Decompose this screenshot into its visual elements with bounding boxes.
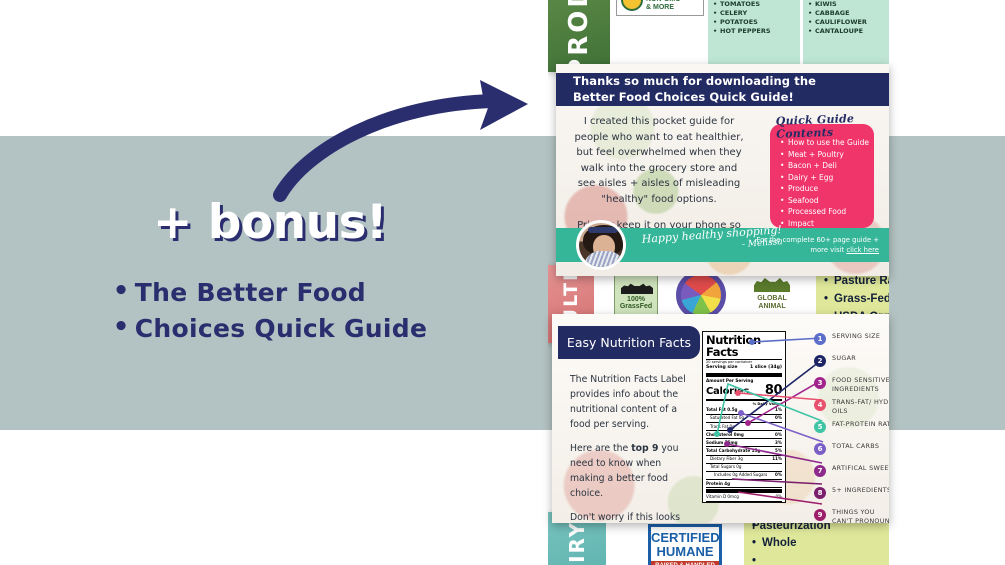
ccof-icon	[621, 0, 643, 11]
nf-nutrient-row: Total Fat 0.5g1%	[706, 407, 782, 413]
nf-callout: 9THINGS YOUCAN'T PRONOUNCE	[814, 508, 889, 523]
nf-callout-number: 7	[814, 465, 826, 477]
nf-row-name: Total Fat 0.5g	[706, 407, 738, 413]
nf-callout-number: 6	[814, 443, 826, 455]
bonus-section: + bonus! The Better FoodChoices Quick Gu…	[0, 195, 540, 348]
quick-guide-cta: For the complete 60+ page guide + more v…	[744, 235, 879, 256]
nf-row-name: Sodium 75mg	[706, 440, 738, 446]
nf-callout-label: FOOD SENSITIVEINGREDIENTS	[832, 376, 889, 394]
nf-nutrient-row: Protein 4g	[706, 481, 782, 487]
curved-arrow-right-icon	[266, 78, 566, 208]
quick-guide-header-line1: Thanks so much for downloading the	[573, 74, 816, 90]
nf-callout: 5FAT-PROTEIN RATIO	[814, 420, 889, 439]
nf-callout-number: 8	[814, 487, 826, 499]
nf-row-dv: 0%	[775, 432, 782, 438]
produce-clean-list: SWEET CORNPINEAPPLESSWEET PEAS(FROZEN)ON…	[803, 0, 895, 72]
dairy-spacer	[752, 553, 896, 565]
nf-callout-label: SUGAR	[832, 354, 856, 363]
nf-row-name: Includes 0g Added Sugars	[714, 472, 767, 478]
bonus-bullet: The Better Food	[113, 275, 427, 311]
quick-guide-card[interactable]: Thanks so much for downloading the Bette…	[556, 64, 889, 276]
nf-row-name: Total Sugars 0g	[710, 464, 741, 470]
nf-row-dv: 11%	[772, 456, 782, 462]
nf-title: Easy Nutrition Facts	[558, 326, 700, 359]
nf-callout-label: 5+ INGREDIENTS	[832, 486, 889, 495]
collage-right-gray	[889, 136, 1005, 430]
nf-nutrient-row: Includes 0g Added Sugars0%	[706, 472, 782, 478]
nf-nutrient-rows: Total Fat 0.5g1%Saturated Fat 0g0%Trans …	[706, 407, 782, 488]
bonus-bullet-list: The Better FoodChoices Quick Guide	[113, 275, 427, 348]
produce-dirty-list: SPINACHKALENECTARINESAPPLESGRAPESPEACHES…	[708, 0, 800, 72]
nf-calories-value: 80	[765, 383, 782, 398]
nf-micro-row: Calcium 0mg0%	[706, 502, 782, 503]
nf-row-dv: 5%	[775, 448, 782, 454]
nf-micro-name: Calcium 0mg	[706, 502, 733, 503]
nf-nutrient-row: Total Carbohydrate 15g5%	[706, 448, 782, 454]
nf-row-dv: 0%	[775, 415, 782, 421]
nf-callout-label: SERVING SIZE	[832, 332, 880, 341]
nf-callout-number: 5	[814, 421, 826, 433]
nf-nutrient-row: Saturated Fat 0g0%	[706, 415, 782, 421]
nf-callout-label: TRANS-FAT/ HYDROGENATEDOILS	[832, 398, 889, 416]
contents-item: Processed Food	[780, 206, 866, 218]
contents-item: Meat + Poultry	[780, 149, 866, 161]
nf-paragraph-2: Here are the top 9 you need to know when…	[570, 441, 698, 501]
grassfed-badge-icon: 100% GrassFed	[614, 275, 658, 315]
nf-micro-dv: 0%	[776, 494, 783, 500]
produce-side-tab: PRODUCE	[548, 0, 610, 72]
nf-callout-number: 1	[814, 333, 826, 345]
produce-list-item: CANTALOUPE	[808, 27, 890, 36]
contents-item: Bacon + Deli	[780, 160, 866, 172]
quick-guide-contents-list: How to use the GuideMeat + PoultryBacon …	[780, 137, 866, 241]
nf-callout: 4TRANS-FAT/ HYDROGENATEDOILS	[814, 398, 889, 417]
cta-link[interactable]: click here	[846, 246, 879, 254]
contents-item: Seafood	[780, 195, 866, 207]
global-animal-partnership-badge-icon: GLOBAL ANIMAL	[744, 273, 800, 317]
produce-list-item: CAULIFLOWER	[808, 18, 890, 27]
avatar	[576, 220, 626, 270]
nf-micronutrient-rows: Vitamin D 0mcg0%Calcium 0mg0%Iron 0mg0%P…	[706, 494, 782, 503]
quick-guide-paragraph-1: I created this pocket guide for people w…	[574, 114, 744, 207]
cta-line-1: For the complete 60+ page guide +	[744, 235, 879, 246]
quick-guide-contents-box: Quick Guide Contents How to use the Guid…	[770, 124, 874, 228]
nf-row-name: Dietary Fiber 3g	[710, 456, 743, 462]
nf-nutrient-row: Sodium 75mg3%	[706, 440, 782, 446]
quick-guide-header: Thanks so much for downloading the Bette…	[556, 73, 889, 106]
contents-item: Dairy + Egg	[780, 172, 866, 184]
nf-nutrient-row: Dietary Fiber 3g11%	[706, 456, 782, 462]
non-gmo-seal-text: ORGANIC IS NON-GMO & MORE	[646, 0, 688, 12]
cta-line-2-prefix: more visit	[810, 246, 846, 254]
collage-right-white-bottom	[889, 430, 1005, 565]
nf-callout-number: 9	[814, 509, 826, 521]
nf-callout: 6TOTAL CARBS	[814, 442, 889, 461]
nf-row-name: Total Carbohydrate 15g	[706, 448, 760, 454]
produce-list-item: CELERY	[713, 9, 795, 18]
nf-nutrient-row: Trans Fat 0g	[706, 424, 782, 430]
dairy-list-item: Whole	[752, 535, 896, 552]
nf-callout: 1SERVING SIZE	[814, 332, 889, 351]
easy-nutrition-facts-card[interactable]: Easy Nutrition Facts The Nutrition Facts…	[552, 314, 889, 523]
nf-row-name: Cholesterol 0mg	[706, 432, 744, 438]
nf-paragraph-1: The Nutrition Facts Label provides info …	[570, 372, 698, 432]
avatar-body	[584, 251, 624, 267]
nf-serving-size-label: Serving size	[706, 365, 738, 372]
certified-naturally-grown-badge-icon	[676, 270, 726, 320]
nf-row-name: Protein 4g	[706, 481, 730, 487]
contents-item: Produce	[780, 183, 866, 195]
nf-callout-label: FAT-PROTEIN RATIO	[832, 420, 889, 429]
produce-side-tab-label: PRODUCE	[564, 0, 594, 72]
nf-calories-label: Calories	[706, 386, 749, 397]
contents-item: How to use the Guide	[780, 137, 866, 149]
nf-body: The Nutrition Facts Label provides info …	[570, 372, 698, 523]
nf-row-name: Trans Fat 0g	[710, 424, 735, 430]
nf-callout-label: TOTAL CARBS	[832, 442, 879, 451]
nf-paragraph-3: Don't worry if this looks overwhelming. …	[570, 510, 698, 523]
nf-callout-number: 4	[814, 399, 826, 411]
nf-callout: 2SUGAR	[814, 354, 889, 373]
nf-callout: 3FOOD SENSITIVEINGREDIENTS	[814, 376, 889, 395]
nf-nutrient-row: Cholesterol 0mg0%	[706, 432, 782, 438]
avatar-headband	[588, 227, 618, 233]
nf-row-dv: 0%	[775, 472, 782, 478]
nutrition-facts-label: Nutrition Facts 20 servings per containe…	[702, 331, 786, 503]
nf-micro-row: Vitamin D 0mcg0%	[706, 494, 782, 500]
nf-callout-label: ARTIFICAL SWEETENERS	[832, 464, 889, 473]
produce-list-item: HOT PEPPERS	[713, 27, 795, 36]
produce-list-item: TOMATOES	[713, 0, 795, 9]
screenshot-root: PRODUCE USDA ORGANIC ORGANIC IS NON-GMO …	[0, 0, 1005, 565]
nf-callout: 7ARTIFICAL SWEETENERS	[814, 464, 889, 483]
nf-row-dv: 3%	[775, 440, 782, 446]
nf-micro-name: Vitamin D 0mcg	[706, 494, 739, 500]
nf-micro-dv: 0%	[776, 502, 783, 503]
nf-row-dv: 1%	[775, 407, 782, 413]
page-title: + bonus!	[0, 195, 540, 250]
non-gmo-seal-icon: ORGANIC IS NON-GMO & MORE	[616, 0, 704, 16]
produce-seals: USDA ORGANIC ORGANIC IS NON-GMO & MORE	[616, 0, 704, 16]
nf-callout-number: 2	[814, 355, 826, 367]
nf-row-name: Saturated Fat 0g	[710, 415, 744, 421]
nf-label-title: Nutrition Facts	[706, 334, 782, 358]
certified-humane-badge-icon: CERTIFIED HUMANE RAISED & HANDLED	[648, 524, 722, 565]
collage-right-white-top	[889, 0, 1005, 136]
nf-callout: 85+ INGREDIENTS	[814, 486, 889, 505]
produce-list-item: KIWIS	[808, 0, 890, 9]
nf-callout-list: 1SERVING SIZE2SUGAR3FOOD SENSITIVEINGRED…	[814, 332, 889, 523]
nf-nutrient-row: Total Sugars 0g	[706, 464, 782, 470]
produce-list-item: CABBAGE	[808, 9, 890, 18]
produce-list-item: POTATOES	[713, 18, 795, 27]
nf-callout-label: THINGS YOUCAN'T PRONOUNCE	[832, 508, 889, 523]
quick-guide-header-line2: Better Food Choices Quick Guide!	[573, 90, 816, 106]
nf-serving-size-value: 1 slice (34g)	[750, 365, 782, 372]
nf-callout-number: 3	[814, 377, 826, 389]
bonus-bullet: Choices Quick Guide	[113, 311, 427, 347]
